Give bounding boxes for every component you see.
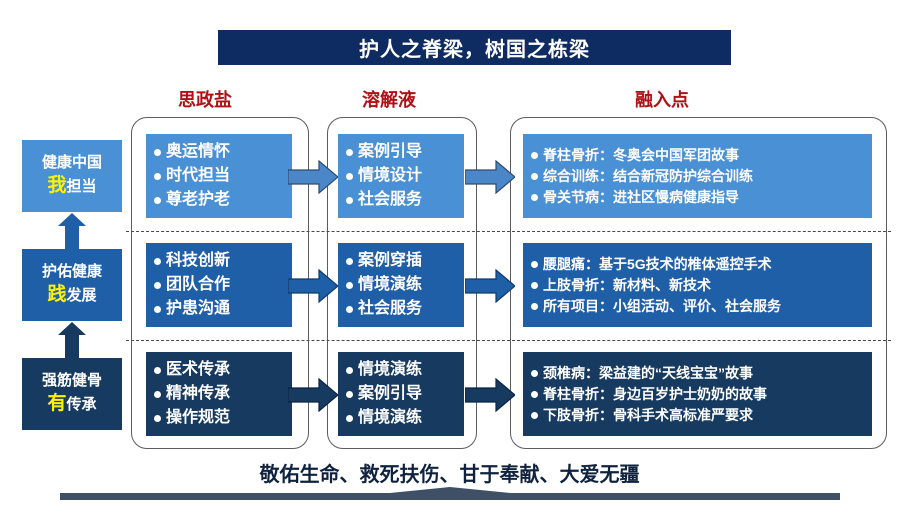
list-item: 情境演练 xyxy=(346,273,456,297)
list-item-label: 情境设计 xyxy=(358,164,422,188)
solvent-box-row2[interactable]: 案例穿插 情境演练 社会服务 xyxy=(338,243,464,327)
bullet-icon xyxy=(154,282,161,289)
stage-box-3[interactable]: 强筋健骨 有传承 xyxy=(22,358,122,430)
list-item-label: 脊柱骨折：冬奥会中国军团故事 xyxy=(543,145,739,166)
salt-box-row2[interactable]: 科技创新 团队合作 护患沟通 xyxy=(146,243,292,327)
list-item: 时代担当 xyxy=(154,164,284,188)
footer-chevron-bar xyxy=(60,487,840,503)
stage-box-1-highlight: 我 xyxy=(47,175,66,196)
stage-box-2-rest: 发展 xyxy=(67,287,97,304)
list-item-label: 社会服务 xyxy=(358,297,422,321)
bullet-icon xyxy=(531,391,538,398)
up-arrow-icon-1 xyxy=(58,213,86,249)
stage-box-3-highlight: 有 xyxy=(47,393,66,414)
right-arrow-icon-row1-2 xyxy=(465,160,515,194)
list-item: 科技创新 xyxy=(154,249,284,273)
list-item-label: 案例穿插 xyxy=(358,249,422,273)
list-item-label: 精神传承 xyxy=(166,382,230,406)
list-item: 颈椎病：梁益建的“天线宝宝”故事 xyxy=(531,363,864,384)
bullet-icon xyxy=(154,306,161,313)
bullet-icon xyxy=(346,173,353,180)
list-item-label: 医术传承 xyxy=(166,358,230,382)
solvent-box-row3[interactable]: 情境演练 案例引导 情境演练 xyxy=(338,352,464,436)
list-item: 情境设计 xyxy=(346,164,456,188)
bullet-icon xyxy=(154,415,161,422)
bullet-icon xyxy=(346,391,353,398)
list-item-label: 颈椎病：梁益建的“天线宝宝”故事 xyxy=(543,363,753,384)
bullet-icon xyxy=(531,282,538,289)
list-item: 脊柱骨折：冬奥会中国军团故事 xyxy=(531,145,864,166)
bullet-icon xyxy=(154,149,161,156)
list-item-label: 社会服务 xyxy=(358,188,422,212)
bullet-icon xyxy=(531,370,538,377)
salt-box-row1[interactable]: 奥运情怀 时代担当 尊老护老 xyxy=(146,134,292,218)
stage-box-1-line1: 健康中国 xyxy=(42,153,102,173)
list-item: 团队合作 xyxy=(154,273,284,297)
stage-box-1-rest: 担当 xyxy=(67,178,97,195)
bullet-icon xyxy=(346,367,353,374)
right-arrow-icon-row2-2 xyxy=(465,269,515,303)
column-header-solvent: 溶解液 xyxy=(362,86,416,112)
list-item: 案例引导 xyxy=(346,382,456,406)
bullet-icon xyxy=(531,152,538,159)
list-item: 案例引导 xyxy=(346,140,456,164)
slide-title: 护人之脊梁，树国之栋梁 xyxy=(359,33,590,62)
list-item-label: 尊老护老 xyxy=(166,188,230,212)
stage-box-3-rest: 传承 xyxy=(67,396,97,413)
list-item: 综合训练：结合新冠防护综合训练 xyxy=(531,166,864,187)
list-item-label: 情境演练 xyxy=(358,273,422,297)
list-item-label: 案例引导 xyxy=(358,382,422,406)
list-item-label: 腰腿痛：基于5G技术的椎体遥控手术 xyxy=(543,254,772,275)
slide-title-bar: 护人之脊梁，树国之栋梁 xyxy=(218,30,731,65)
list-item-label: 科技创新 xyxy=(166,249,230,273)
list-item-label: 情境演练 xyxy=(358,358,422,382)
list-item-label: 时代担当 xyxy=(166,164,230,188)
bullet-icon xyxy=(531,173,538,180)
list-item: 脊柱骨折：身边百岁护士奶奶的故事 xyxy=(531,384,864,405)
right-arrow-icon-row1-1 xyxy=(288,160,338,194)
list-item-label: 护患沟通 xyxy=(166,297,230,321)
bullet-icon xyxy=(531,261,538,268)
footer-slogan: 敬佑生命、救死扶伤、甘于奉献、大爱无疆 xyxy=(0,458,899,487)
list-item-label: 团队合作 xyxy=(166,273,230,297)
list-item: 情境演练 xyxy=(346,406,456,430)
list-item-label: 骨关节病：进社区慢病健康指导 xyxy=(543,187,739,208)
list-item: 下肢骨折：骨科手术高标准严要求 xyxy=(531,405,864,426)
bullet-icon xyxy=(154,391,161,398)
stage-box-2-line2: 践发展 xyxy=(47,282,96,308)
right-arrow-icon-row3-1 xyxy=(288,378,338,412)
list-item: 腰腿痛：基于5G技术的椎体遥控手术 xyxy=(531,254,864,275)
list-item-label: 情境演练 xyxy=(358,406,422,430)
list-item: 社会服务 xyxy=(346,188,456,212)
bullet-icon xyxy=(154,367,161,374)
list-item-label: 脊柱骨折：身边百岁护士奶奶的故事 xyxy=(543,384,767,405)
list-item: 尊老护老 xyxy=(154,188,284,212)
bullet-icon xyxy=(531,194,538,201)
bullet-icon xyxy=(346,149,353,156)
stage-box-2-highlight: 践 xyxy=(47,284,66,305)
column-header-points: 融入点 xyxy=(635,86,689,112)
list-item-label: 下肢骨折：骨科手术高标准严要求 xyxy=(543,405,753,426)
right-arrow-icon-row2-1 xyxy=(288,269,338,303)
bullet-icon xyxy=(346,258,353,265)
list-item: 医术传承 xyxy=(154,358,284,382)
list-item: 奥运情怀 xyxy=(154,140,284,164)
list-item-label: 操作规范 xyxy=(166,406,230,430)
list-item: 情境演练 xyxy=(346,358,456,382)
bullet-icon xyxy=(154,197,161,204)
salt-box-row3[interactable]: 医术传承 精神传承 操作规范 xyxy=(146,352,292,436)
list-item: 精神传承 xyxy=(154,382,284,406)
row-separator-1 xyxy=(126,231,891,232)
bullet-icon xyxy=(346,197,353,204)
right-arrow-icon-row3-2 xyxy=(465,378,515,412)
points-box-row1[interactable]: 脊柱骨折：冬奥会中国军团故事 综合训练：结合新冠防护综合训练 骨关节病：进社区慢… xyxy=(523,134,872,218)
list-item-label: 所有项目：小组活动、评价、社会服务 xyxy=(543,296,781,317)
points-box-row2[interactable]: 腰腿痛：基于5G技术的椎体遥控手术 上肢骨折：新材料、新技术 所有项目：小组活动… xyxy=(523,243,872,327)
bullet-icon xyxy=(154,258,161,265)
solvent-box-row1[interactable]: 案例引导 情境设计 社会服务 xyxy=(338,134,464,218)
bullet-icon xyxy=(346,306,353,313)
list-item: 案例穿插 xyxy=(346,249,456,273)
stage-box-1-line2: 我担当 xyxy=(47,173,96,199)
list-item: 骨关节病：进社区慢病健康指导 xyxy=(531,187,864,208)
list-item-label: 综合训练：结合新冠防护综合训练 xyxy=(543,166,753,187)
stage-box-3-line2: 有传承 xyxy=(47,391,96,417)
list-item: 社会服务 xyxy=(346,297,456,321)
column-header-salt: 思政盐 xyxy=(178,86,232,112)
points-box-row3[interactable]: 颈椎病：梁益建的“天线宝宝”故事 脊柱骨折：身边百岁护士奶奶的故事 下肢骨折：骨… xyxy=(523,352,872,436)
list-item: 所有项目：小组活动、评价、社会服务 xyxy=(531,296,864,317)
row-separator-2 xyxy=(126,340,891,341)
stage-box-3-line1: 强筋健骨 xyxy=(42,371,102,391)
list-item: 操作规范 xyxy=(154,406,284,430)
bullet-icon xyxy=(531,303,538,310)
stage-box-2[interactable]: 护佑健康 践发展 xyxy=(22,249,122,321)
list-item: 护患沟通 xyxy=(154,297,284,321)
slide-canvas: 护人之脊梁，树国之栋梁 思政盐 溶解液 融入点 健康中国 我担当 护佑健康 践发… xyxy=(0,0,899,510)
bullet-icon xyxy=(346,415,353,422)
bullet-icon xyxy=(154,173,161,180)
bullet-icon xyxy=(346,282,353,289)
list-item-label: 案例引导 xyxy=(358,140,422,164)
up-arrow-icon-2 xyxy=(58,322,86,358)
stage-box-1[interactable]: 健康中国 我担当 xyxy=(22,140,122,212)
list-item: 上肢骨折：新材料、新技术 xyxy=(531,275,864,296)
stage-box-2-line1: 护佑健康 xyxy=(42,262,102,282)
list-item-label: 上肢骨折：新材料、新技术 xyxy=(543,275,711,296)
list-item-label: 奥运情怀 xyxy=(166,140,230,164)
bullet-icon xyxy=(531,412,538,419)
